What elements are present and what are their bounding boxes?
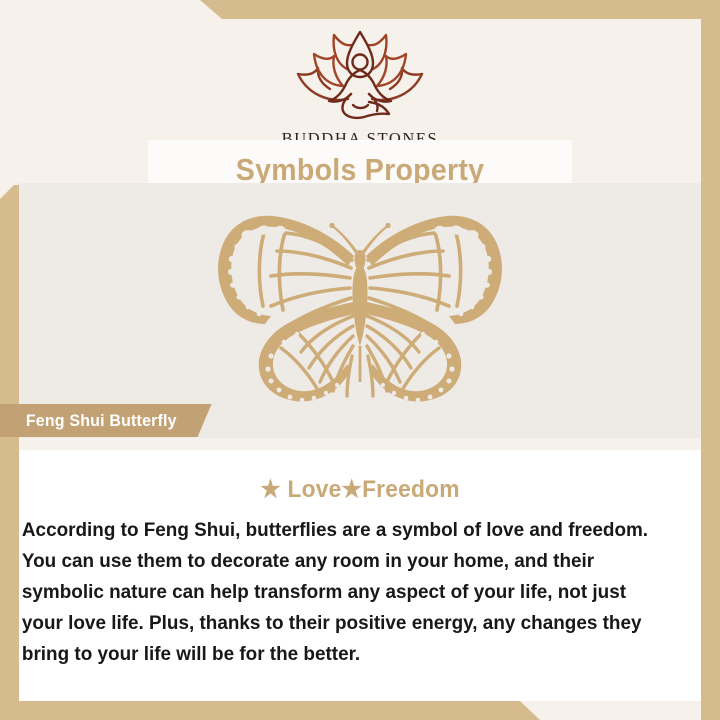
frame-top-accent	[0, 0, 720, 19]
butterfly-icon	[201, 206, 519, 416]
lotus-meditation-icon	[285, 29, 435, 126]
infographic-page: BUDDHA STONES Symbols Property	[0, 0, 720, 720]
section-subheading: ★ Love★Freedom	[36, 450, 684, 504]
status-badge: Feng Shui Butterfly	[0, 404, 212, 437]
butterfly-holder	[19, 183, 701, 438]
description-panel: ★ Love★Freedom According to Feng Shui, b…	[19, 450, 701, 701]
header: BUDDHA STONES Symbols Property	[19, 19, 701, 183]
artwork-panel	[19, 183, 701, 438]
frame-bottom-accent	[0, 701, 720, 720]
badge-label: Feng Shui Butterfly	[26, 411, 177, 431]
page-body: BUDDHA STONES Symbols Property	[19, 19, 701, 701]
frame-left-accent	[0, 185, 19, 720]
frame-right-accent	[701, 0, 720, 720]
brand-logo: BUDDHA STONES	[19, 29, 701, 149]
description-paragraph: According to Feng Shui, butterflies are …	[19, 504, 677, 670]
panel-divider	[19, 438, 701, 450]
